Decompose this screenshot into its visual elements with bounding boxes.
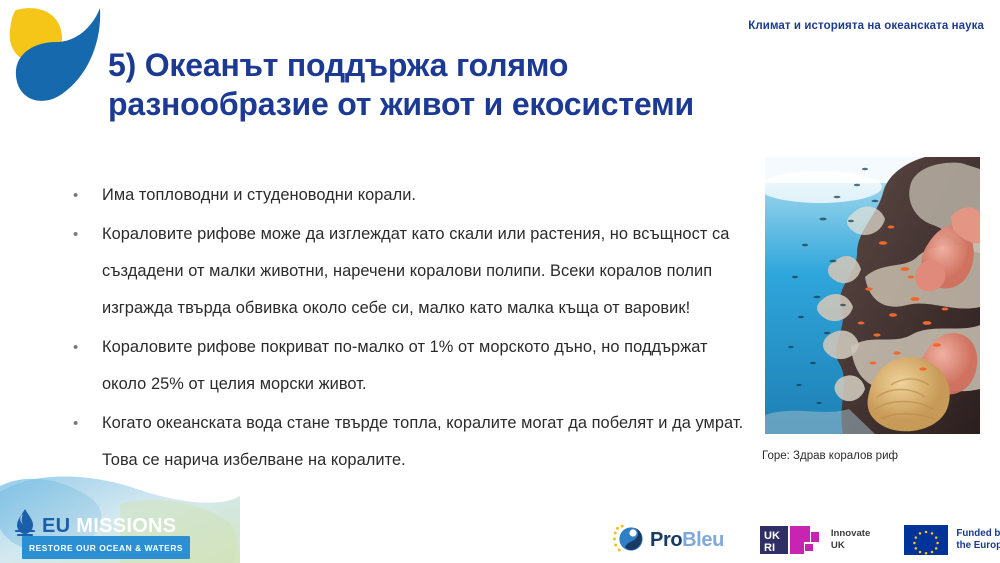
ukri-mark-icon: UK RI	[760, 524, 824, 556]
page-title: 5) Океанът поддържа голямо разнообразие …	[108, 46, 878, 125]
bullet-marker-icon: •	[68, 177, 102, 214]
bullet-marker-icon: •	[68, 405, 102, 442]
probleu-bleu-text: Bleu	[682, 529, 724, 551]
probleu-pro-text: Pro	[650, 529, 682, 551]
eu-funding-line-1: Funded by	[956, 528, 1000, 540]
eu-missions-badge: EU MISSIONS RESTORE OUR OCEAN & WATERS	[0, 458, 240, 563]
eu-missions-wordmark: EU MISSIONS	[42, 515, 176, 538]
brand-swoosh-icon	[4, 2, 108, 106]
svg-text:UK: UK	[764, 530, 780, 542]
bullet-text: Кораловите рифове може да изглеждат като…	[102, 216, 748, 327]
eu-funding-text: Funded by the European Union	[956, 528, 1000, 553]
brand-swoosh-logo	[4, 2, 108, 106]
bullet-text: Кораловите рифове покриват по-малко от 1…	[102, 329, 748, 403]
body-bullet-list: • Има топловодни и студеноводни корали. …	[68, 177, 748, 481]
eu-missions-tagline: RESTORE OUR OCEAN & WATERS	[29, 543, 183, 553]
funder-logo-row: ProBleu UK RI Innovate UK	[612, 521, 1000, 559]
innovate-uk-line-1: Innovate	[831, 528, 870, 540]
slide-canvas: Климат и историята на океанската наука 5…	[0, 0, 1000, 563]
probleu-logo: ProBleu	[612, 524, 724, 556]
bullet-marker-icon: •	[68, 216, 102, 253]
bullet-text: Има топловодни и студеноводни корали.	[102, 177, 748, 214]
list-item: • Има топловодни и студеноводни корали.	[68, 177, 748, 214]
innovate-uk-logo: UK RI Innovate UK	[760, 524, 870, 556]
innovate-uk-text: Innovate UK	[831, 528, 870, 552]
svg-text:RI: RI	[764, 542, 775, 554]
probleu-globe-icon	[612, 524, 646, 556]
eu-funding-line-2: the European Union	[956, 540, 1000, 552]
water-drop-icon	[14, 508, 36, 536]
eu-missions-missions-text: MISSIONS	[76, 515, 176, 537]
list-item: • Кораловите рифове покриват по-малко от…	[68, 329, 748, 403]
photo-caption: Горе: Здрав коралов риф	[762, 450, 898, 462]
eu-missions-tagline-strip: RESTORE OUR OCEAN & WATERS	[22, 536, 190, 559]
probleu-wordmark: ProBleu	[650, 529, 724, 552]
eu-funding-logo: Funded by the European Union	[904, 525, 1000, 555]
bullet-marker-icon: •	[68, 329, 102, 366]
eu-missions-eu-text: EU	[42, 515, 70, 537]
coral-reef-illustration	[765, 157, 980, 434]
list-item: • Кораловите рифове може да изглеждат ка…	[68, 216, 748, 327]
innovate-uk-line-2: UK	[831, 540, 870, 552]
page-title-line-2: разнообразие от живот и екосистеми	[108, 85, 878, 124]
page-title-line-1: 5) Океанът поддържа голямо	[108, 46, 878, 85]
eu-flag-icon	[904, 525, 948, 555]
running-header: Климат и историята на океанската наука	[748, 20, 984, 32]
coral-reef-photo	[765, 157, 980, 434]
